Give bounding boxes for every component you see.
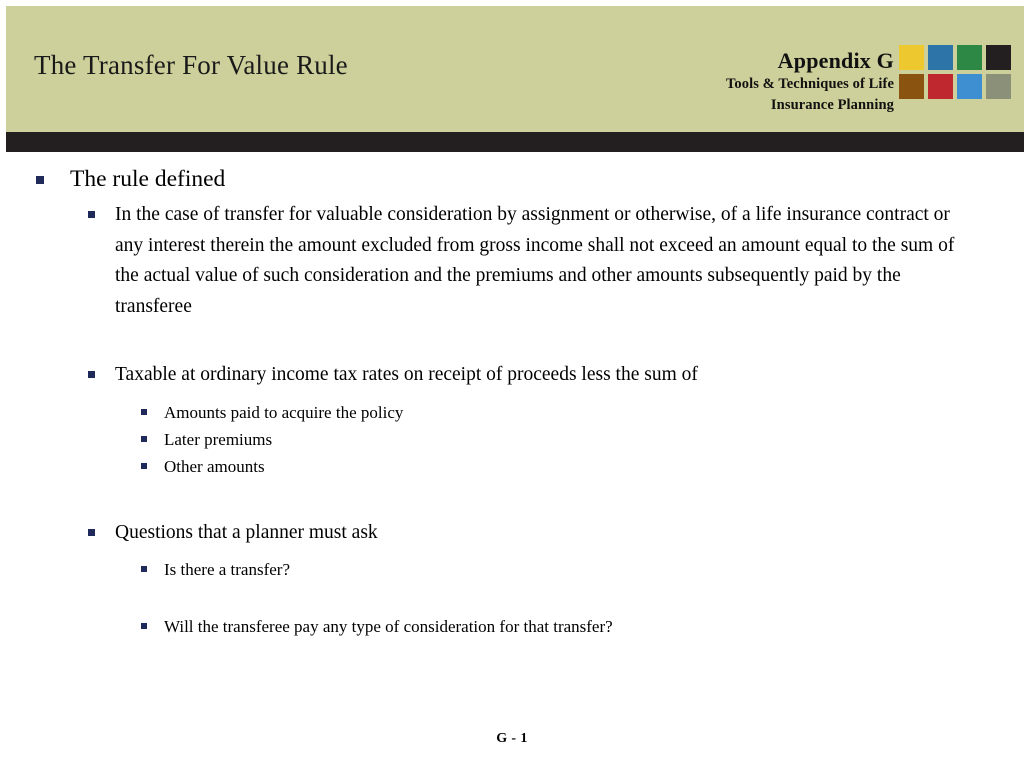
- list-item-label: Questions that a planner must ask: [115, 518, 378, 549]
- swatch-red: [928, 74, 953, 99]
- list-item-label: Is there a transfer?: [164, 556, 290, 583]
- slide-body: The rule defined In the case of transfer…: [0, 164, 1024, 640]
- square-bullet-icon: [88, 529, 95, 536]
- square-bullet-icon: [36, 176, 44, 184]
- spacer: [0, 322, 1024, 360]
- spacer: [0, 391, 1024, 399]
- square-bullet-icon: [88, 371, 95, 378]
- list-item-taxable-0: Amounts paid to acquire the policy: [141, 399, 1024, 426]
- list-item-questions-heading: Questions that a planner must ask: [88, 518, 1024, 549]
- square-bullet-icon: [88, 211, 95, 218]
- list-item-taxable-heading: Taxable at ordinary income tax rates on …: [88, 360, 1024, 391]
- list-item-label: Other amounts: [164, 453, 265, 480]
- page-title: The Transfer For Value Rule: [34, 48, 348, 82]
- series-line-1: Tools & Techniques of Life: [424, 74, 894, 95]
- series-line-2: Insurance Planning: [424, 95, 894, 116]
- square-bullet-icon: [141, 566, 147, 572]
- page-number: G - 1: [0, 731, 1024, 747]
- appendix-label: Appendix G: [424, 48, 894, 74]
- swatch-sky: [957, 74, 982, 99]
- list-item-label: Will the transferee pay any type of cons…: [164, 613, 613, 640]
- slide: The Transfer For Value Rule Appendix G T…: [0, 0, 1024, 768]
- square-bullet-icon: [141, 623, 147, 629]
- spacer: [0, 583, 1024, 613]
- swatch-olive: [986, 74, 1011, 99]
- list-item-question-0: Is there a transfer?: [141, 556, 1024, 583]
- header-divider-bar: [6, 132, 1024, 152]
- swatch-green: [957, 45, 982, 70]
- swatch-blue: [928, 45, 953, 70]
- list-item-question-1: Will the transferee pay any type of cons…: [141, 613, 1024, 640]
- list-item-label: The rule defined: [70, 164, 225, 194]
- square-bullet-icon: [141, 409, 147, 415]
- list-item-label: In the case of transfer for valuable con…: [115, 200, 960, 322]
- header-appendix-block: Appendix G Tools & Techniques of Life In…: [424, 48, 894, 116]
- square-bullet-icon: [141, 463, 147, 469]
- list-item-rule-defined: The rule defined: [36, 164, 1024, 194]
- list-item-taxable-2: Other amounts: [141, 453, 1024, 480]
- swatch-yellow: [899, 45, 924, 70]
- spacer: [0, 480, 1024, 518]
- swatch-brown: [899, 74, 924, 99]
- list-item-label: Later premiums: [164, 426, 272, 453]
- spacer: [0, 548, 1024, 556]
- swatch-black: [986, 45, 1011, 70]
- color-swatch-grid: [899, 45, 1011, 99]
- list-item-rule-paragraph: In the case of transfer for valuable con…: [88, 200, 1024, 322]
- list-item-label: Amounts paid to acquire the policy: [164, 399, 403, 426]
- list-item-label: Taxable at ordinary income tax rates on …: [115, 360, 698, 391]
- list-item-taxable-1: Later premiums: [141, 426, 1024, 453]
- square-bullet-icon: [141, 436, 147, 442]
